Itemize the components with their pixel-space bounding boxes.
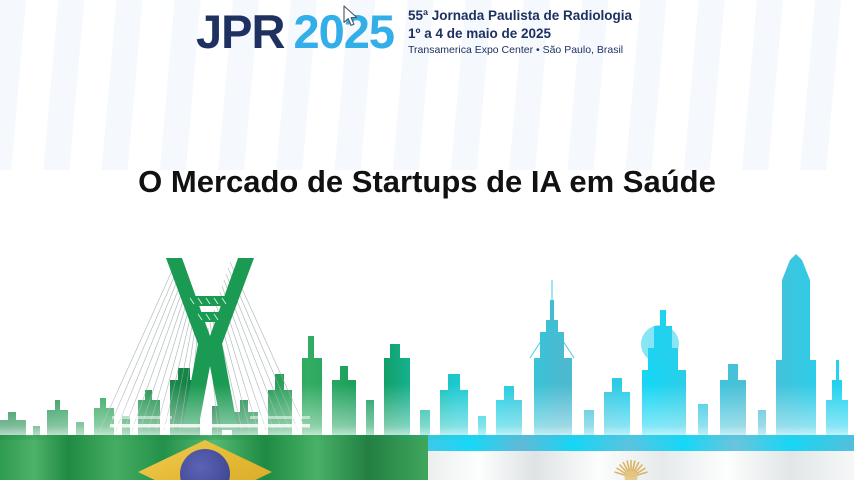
logo-text-year: 2025 (293, 8, 394, 55)
page-title: O Mercado de Startups de IA em Saúde (0, 164, 854, 200)
event-details: 55ª Jornada Paulista de Radiologia 1º a … (408, 4, 632, 59)
jpr-logo: JPR 2025 (196, 8, 394, 55)
event-name: 55ª Jornada Paulista de Radiologia (408, 7, 632, 25)
presentation-slide: JPR 2025 55ª Jornada Paulista de Radiolo… (0, 0, 854, 480)
event-dates: 1º a 4 de maio de 2025 (408, 25, 632, 43)
event-venue: Transamerica Expo Center • São Paulo, Br… (408, 43, 632, 59)
skyline-artwork (0, 240, 854, 480)
city-silhouettes (0, 254, 854, 446)
logo-text-jpr: JPR (196, 8, 284, 55)
jpr-header: JPR 2025 55ª Jornada Paulista de Radiolo… (196, 4, 632, 59)
